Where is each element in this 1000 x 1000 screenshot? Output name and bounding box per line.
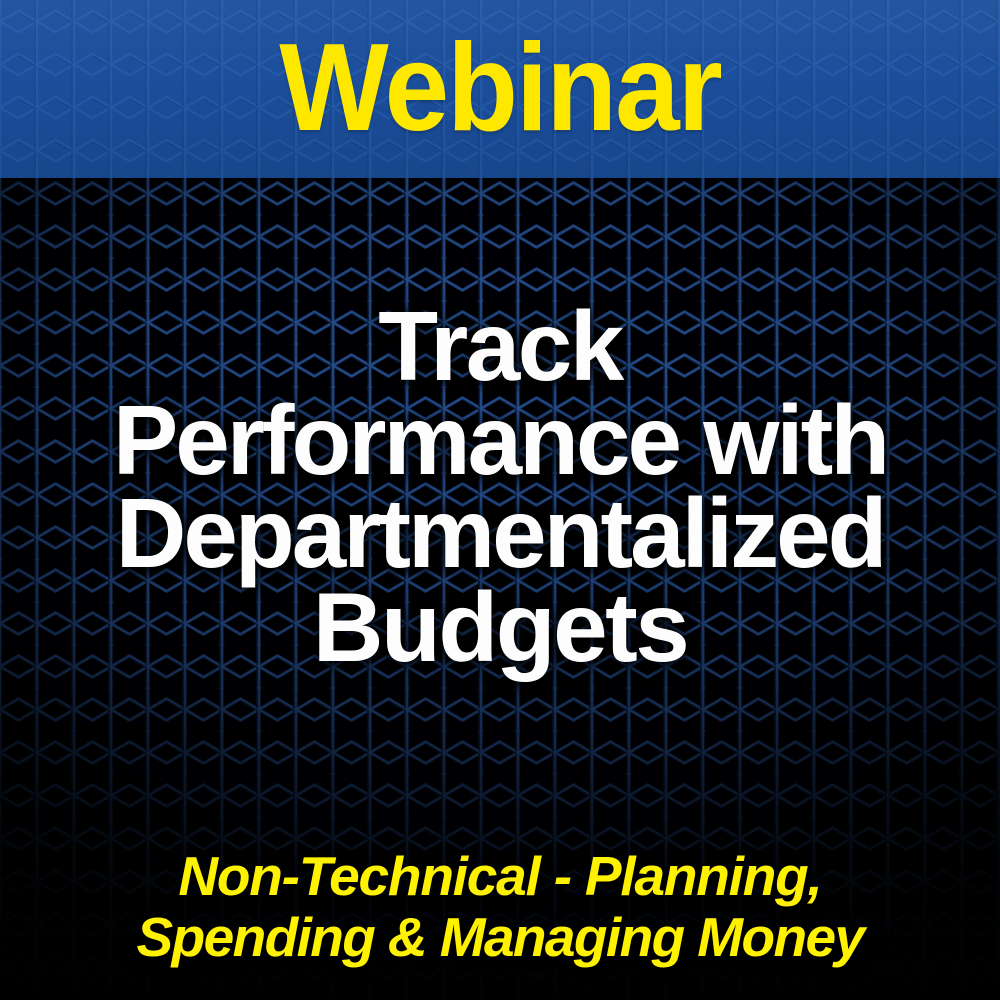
headline-line-4: Budgets xyxy=(0,581,1000,675)
subtitle-line-2: Spending & Managing Money xyxy=(0,907,1000,968)
webinar-banner: Webinar xyxy=(0,0,1000,178)
page-title: Track Performance with Departmentalized … xyxy=(0,300,1000,674)
banner-title: Webinar xyxy=(279,25,721,149)
headline-line-2: Performance with xyxy=(0,394,1000,488)
page-subtitle: Non-Technical - Planning, Spending & Man… xyxy=(0,846,1000,968)
headline-line-3: Departmentalized xyxy=(0,487,1000,581)
subtitle-line-1: Non-Technical - Planning, xyxy=(0,846,1000,907)
headline-line-1: Track xyxy=(0,300,1000,394)
webinar-poster: Webinar Track Performance with Departmen… xyxy=(0,0,1000,1000)
